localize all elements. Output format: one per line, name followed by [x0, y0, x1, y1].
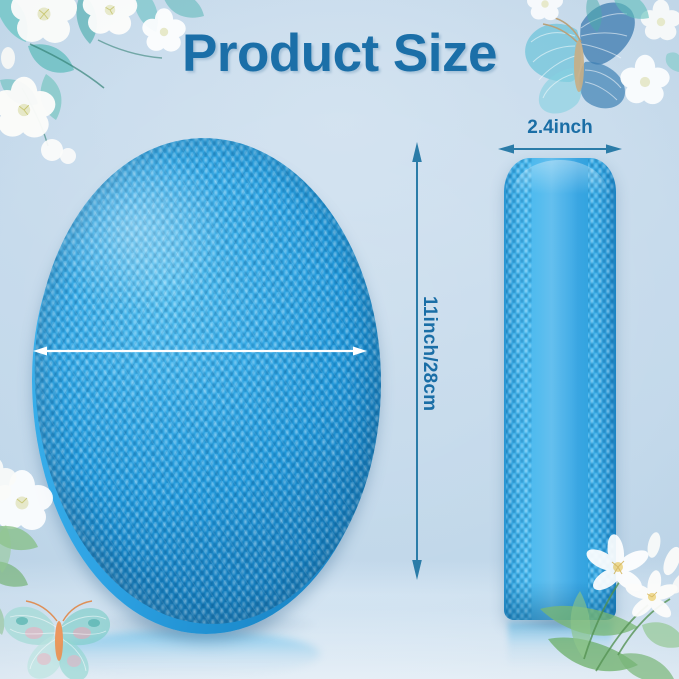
width-arrow-icon — [33, 345, 367, 357]
side-texture-band-left-offset — [506, 158, 532, 620]
thickness-dimension-label: 2.4inch — [490, 117, 630, 139]
side-view-body — [504, 158, 616, 620]
side-view-center-gloss — [532, 158, 588, 620]
thickness-dimension-arrow — [498, 142, 622, 156]
side-view-bottom-shading — [504, 580, 616, 620]
height-dimension-label: 11inch/28cm — [418, 296, 440, 411]
cushion-highlight — [48, 155, 269, 357]
cushion-top-view — [18, 138, 382, 638]
page-title: Product Size — [0, 23, 679, 84]
side-texture-band-right-offset — [588, 158, 614, 620]
width-dimension-arrow — [33, 344, 367, 356]
thickness-arrow-icon — [498, 142, 622, 156]
product-size-infographic: Product Size 7inch/17cm — [0, 0, 679, 679]
cushion-side-view — [498, 158, 622, 628]
